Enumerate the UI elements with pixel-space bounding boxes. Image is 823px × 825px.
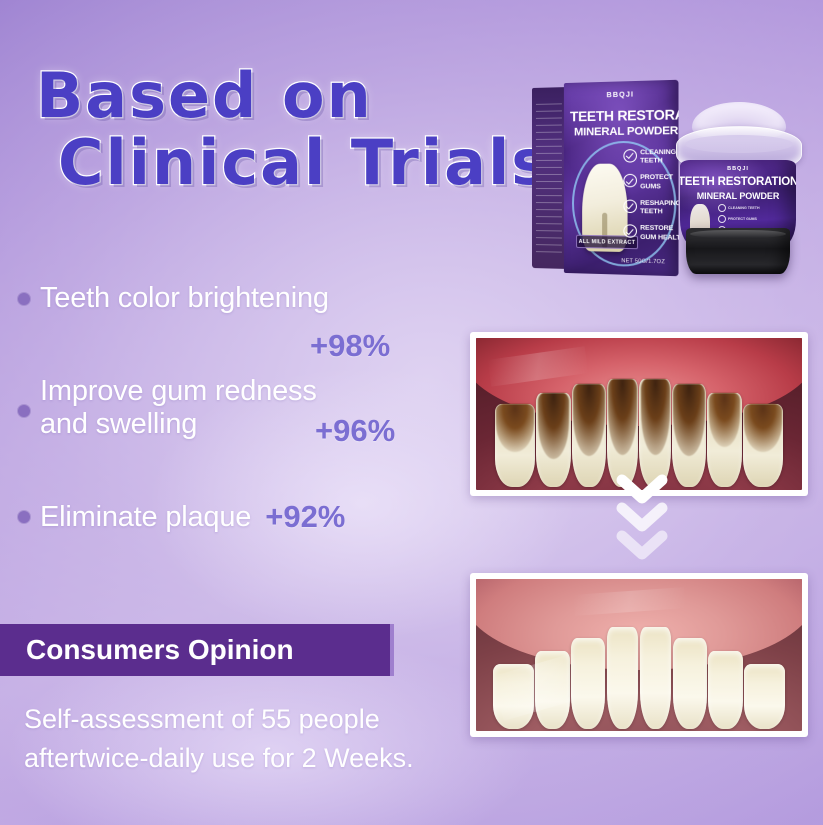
tooth bbox=[673, 638, 707, 729]
check-circle-icon bbox=[623, 174, 637, 187]
tartar-stain bbox=[608, 379, 637, 455]
tooth bbox=[493, 664, 534, 730]
benefit-label: Teeth color brightening bbox=[40, 282, 329, 315]
tooth bbox=[743, 404, 784, 487]
tartar-stain bbox=[673, 384, 705, 456]
benefit-value: +92% bbox=[265, 499, 345, 535]
benefit-value: +98% bbox=[310, 328, 390, 364]
check-circle-icon bbox=[623, 149, 637, 162]
benefit-item-plaque: Eliminate plaque +92% bbox=[10, 499, 460, 535]
jar-feature-label: CLEANING TEETH bbox=[728, 206, 760, 210]
tooth bbox=[495, 404, 536, 487]
after-photo bbox=[470, 573, 808, 737]
benefit-label-line-1: Improve gum redness bbox=[40, 375, 317, 408]
tooth bbox=[707, 393, 741, 487]
bullet-icon bbox=[18, 405, 30, 417]
carton-brand: BBQJI bbox=[607, 91, 635, 99]
promo-poster: Based on Clinical Trials Teeth color bri… bbox=[0, 0, 823, 825]
tartar-stain bbox=[496, 404, 533, 452]
footnote-line-1: Self-assessment of 55 people bbox=[24, 700, 494, 739]
jar-brand: BBQJI bbox=[727, 166, 749, 172]
tooth bbox=[572, 384, 606, 487]
carton-front-panel: BBQJI TEETH RESTORATION MINERAL POWDER A… bbox=[564, 80, 679, 276]
after-photo-image bbox=[476, 579, 802, 731]
benefits-list: Teeth color brightening +98% Improve gum… bbox=[10, 282, 460, 541]
carton-side-text-lines bbox=[536, 103, 562, 254]
teeth-clean-row bbox=[483, 623, 796, 729]
benefit-label-stack: Improve gum redness and swelling bbox=[40, 375, 317, 441]
tooth bbox=[571, 638, 605, 729]
carton-feature-list: CLEANING TEETH PROTECT GUMS RESHAPING TE… bbox=[623, 149, 678, 252]
before-photo-image bbox=[476, 338, 802, 490]
tartar-stain bbox=[538, 393, 570, 459]
product-image: BBQJI TEETH RESTORATION MINERAL POWDER A… bbox=[520, 72, 820, 287]
benefit-label: Eliminate plaque bbox=[40, 501, 251, 534]
tartar-stain bbox=[709, 393, 741, 448]
mouth-after-illustration bbox=[476, 579, 802, 731]
chevron-down-icon bbox=[614, 502, 670, 536]
consumers-opinion-banner: Consumers Opinion bbox=[0, 624, 394, 676]
product-carton: BBQJI TEETH RESTORATION MINERAL POWDER A… bbox=[532, 80, 679, 276]
benefit-item-gum-redness: Improve gum redness and swelling +96% bbox=[10, 375, 460, 441]
tartar-stain bbox=[573, 384, 605, 456]
benefit-label-line-2: and swelling bbox=[40, 408, 317, 441]
carton-net-weight: NET 50G/1.7OZ bbox=[621, 258, 665, 265]
tooth bbox=[535, 651, 569, 730]
benefit-value: +96% bbox=[315, 413, 395, 449]
tooth bbox=[672, 384, 706, 487]
carton-feature-item: RESHAPING TEETH bbox=[623, 200, 678, 218]
check-circle-icon bbox=[718, 204, 726, 212]
carton-side-panel bbox=[532, 87, 566, 269]
carton-feature-item: PROTECT GUMS bbox=[623, 174, 678, 191]
before-photo bbox=[470, 332, 808, 496]
tooth bbox=[536, 393, 570, 487]
bullet-icon bbox=[18, 293, 30, 305]
teeth-stained-row bbox=[483, 375, 796, 487]
tartar-stain bbox=[744, 404, 781, 452]
tooth bbox=[607, 379, 638, 487]
carton-feature-item: CLEANING TEETH bbox=[623, 149, 678, 166]
footnote-line-2: aftertwice-daily use for 2 Weeks. bbox=[24, 739, 494, 778]
chevron-down-icon bbox=[614, 530, 670, 564]
tooth bbox=[708, 651, 742, 730]
jar-title-line-1: TEETH RESTORATION bbox=[680, 176, 796, 188]
check-circle-icon bbox=[718, 215, 726, 223]
jar-feature-label: PROTECT GUMS bbox=[728, 217, 757, 221]
benefit-item-brightening: Teeth color brightening +98% bbox=[10, 282, 460, 315]
tooth bbox=[607, 627, 638, 729]
check-circle-icon bbox=[623, 200, 637, 214]
tooth bbox=[744, 664, 785, 730]
jar-feature-item: CLEANING TEETH bbox=[718, 204, 762, 212]
mouth-before-illustration bbox=[476, 338, 802, 490]
carton-title-line-1: TEETH RESTORATION bbox=[570, 106, 679, 124]
banner-title: Consumers Opinion bbox=[0, 634, 294, 666]
tooth bbox=[640, 627, 671, 729]
footnote: Self-assessment of 55 people aftertwice-… bbox=[24, 700, 494, 778]
check-circle-icon bbox=[623, 225, 637, 239]
bullet-icon bbox=[18, 511, 30, 523]
tartar-stain bbox=[641, 379, 670, 455]
jar-title-line-2: MINERAL POWDER bbox=[697, 191, 779, 201]
carton-title-line-2: MINERAL POWDER bbox=[574, 125, 678, 139]
jar-base bbox=[686, 228, 790, 274]
carton-feature-item: RESTORE GUM HEALTH bbox=[623, 225, 678, 243]
tooth bbox=[639, 379, 670, 487]
jar-feature-item: PROTECT GUMS bbox=[718, 215, 762, 223]
product-jar: BBQJI TEETH RESTORATION MINERAL POWDER C… bbox=[672, 102, 804, 278]
